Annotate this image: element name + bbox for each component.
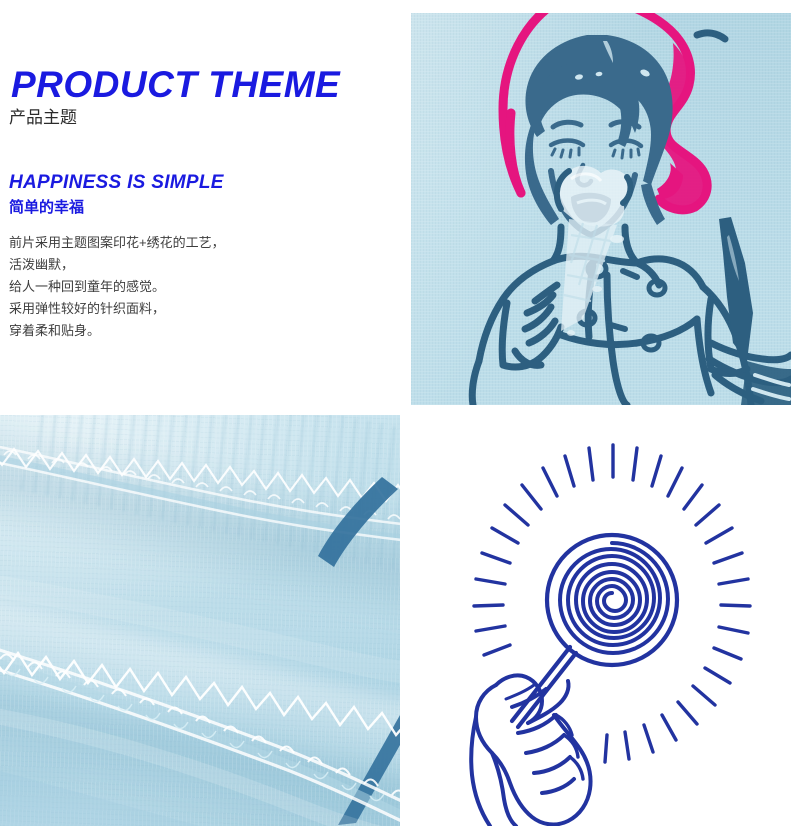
description-line: 前片采用主题图案印花+绣花的工艺， bbox=[9, 232, 339, 254]
fabric-detail-photo bbox=[0, 415, 400, 826]
overlock-seam-graphic bbox=[0, 415, 400, 826]
child-ice-cream-print-graphic bbox=[411, 13, 791, 405]
page-title: PRODUCT THEME bbox=[11, 66, 340, 103]
product-print-photo bbox=[411, 13, 791, 405]
section-heading-english: HAPPINESS IS SIMPLE bbox=[9, 173, 224, 192]
description-line: 活泼幽默， bbox=[9, 254, 339, 276]
page-title-chinese: 产品主题 bbox=[9, 108, 77, 128]
section-heading-chinese: 简单的幸福 bbox=[9, 199, 84, 217]
lollipop-illustration-panel bbox=[400, 415, 791, 826]
hand-holding-lollipop-icon bbox=[400, 415, 791, 826]
product-description: 前片采用主题图案印花+绣花的工艺， 活泼幽默， 给人一种回到童年的感觉。 采用弹… bbox=[9, 232, 339, 342]
product-theme-text-panel: PRODUCT THEME 产品主题 HAPPINESS IS SIMPLE 简… bbox=[0, 0, 400, 405]
description-line: 采用弹性较好的针织面料， bbox=[9, 298, 339, 320]
description-line: 穿着柔和贴身。 bbox=[9, 320, 339, 342]
description-line: 给人一种回到童年的感觉。 bbox=[9, 276, 339, 298]
